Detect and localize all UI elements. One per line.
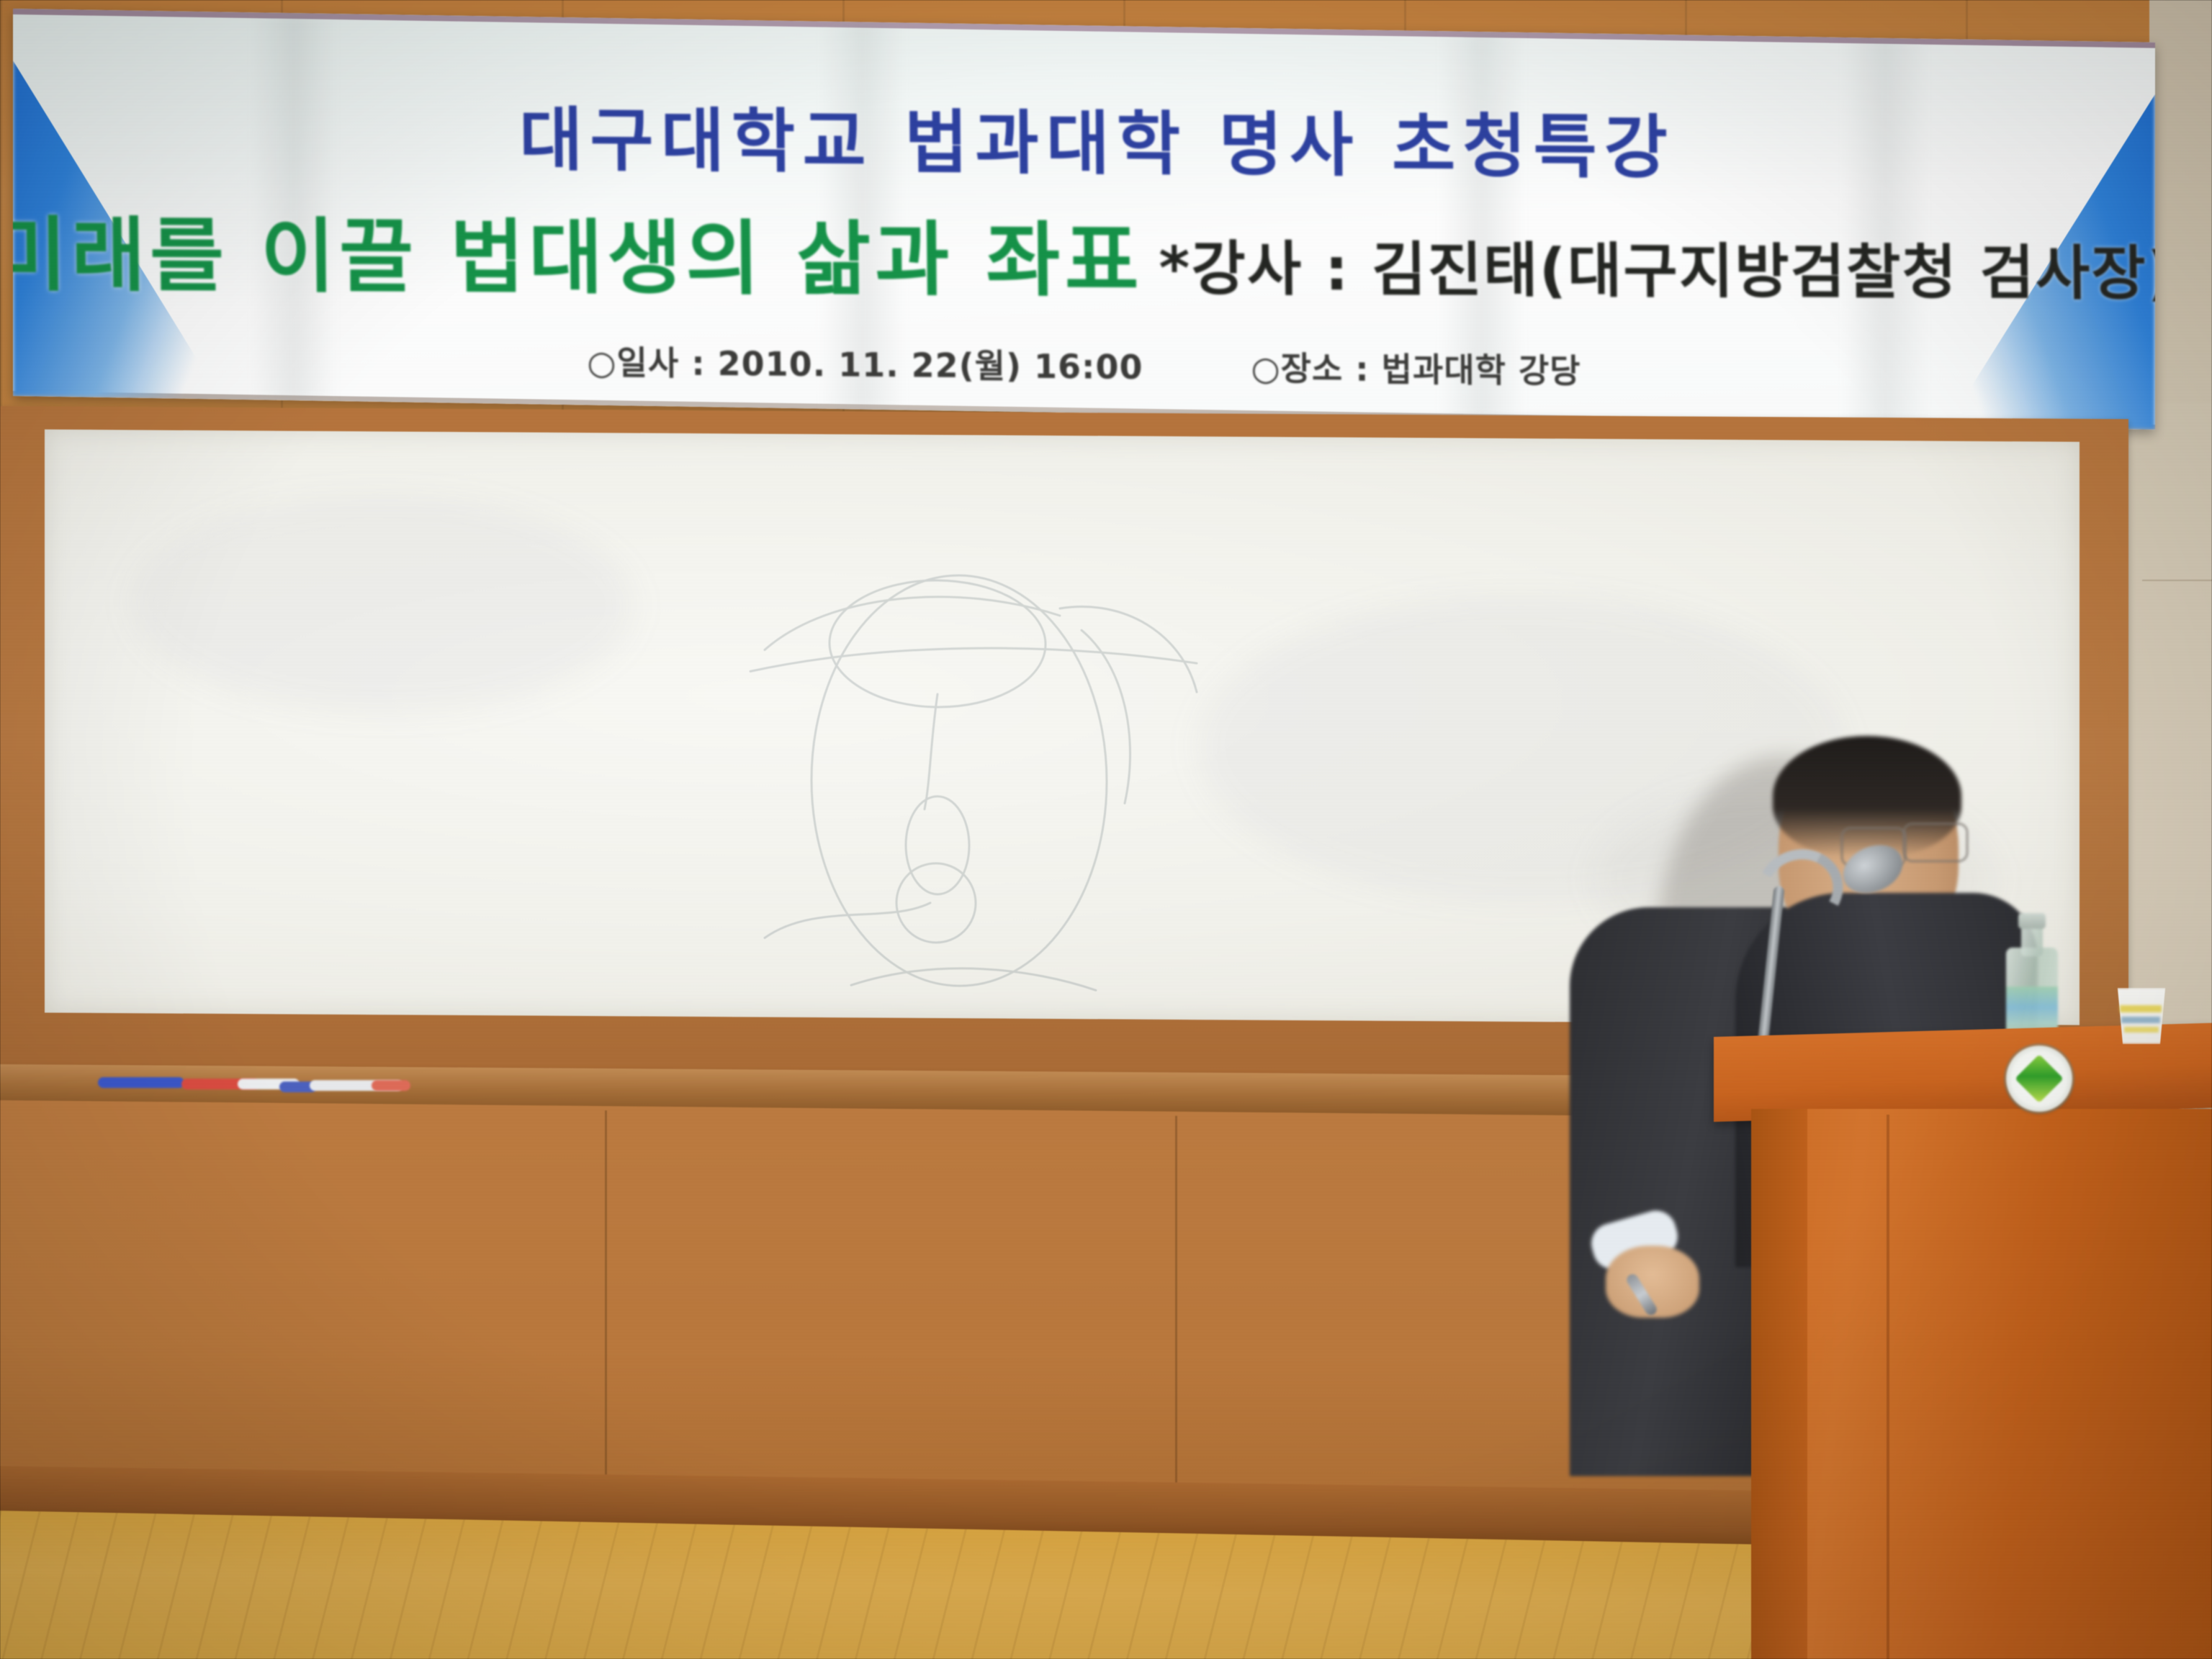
paper-cup[interactable]	[2116, 988, 2167, 1044]
wall-seam	[2142, 580, 2212, 581]
emblem-diamond-icon	[2015, 1054, 2064, 1103]
whiteboard-erased-drawing	[721, 563, 1226, 998]
event-banner: 대구대학교 법과대학 명사 초청특강 미래를 이끌 법대생의 삶과 좌표 *강사…	[13, 9, 2155, 430]
banner-place: ○장소 : 법과대학 강당	[1251, 342, 1581, 392]
banner-speaker-line: *강사 : 김진태(대구지방검찰청 검사장)	[1159, 220, 2155, 311]
bottle-label	[2006, 986, 2058, 1030]
podium-body	[1751, 1109, 2212, 1659]
podium-edge-seam	[1887, 1115, 1889, 1659]
red-marker-2[interactable]	[372, 1080, 410, 1091]
panel-seam	[1175, 1116, 1177, 1491]
cup-band-yellow	[2120, 1005, 2162, 1012]
podium-left-face	[1751, 1109, 1807, 1659]
university-emblem	[2006, 1046, 2072, 1112]
cup-band-blue	[2121, 1017, 2160, 1023]
banner-subtitle-row: 미래를 이끌 법대생의 삶과 좌표 *강사 : 김진태(대구지방검찰청 검사장)	[13, 190, 2155, 318]
lecture-hall-photo: 대구대학교 법과대학 명사 초청특강 미래를 이끌 법대생의 삶과 좌표 *강사…	[0, 0, 2212, 1659]
banner-subtitle-green: 미래를 이끌 법대생의 삶과 좌표	[13, 189, 1143, 312]
panel-seam	[605, 1110, 607, 1485]
eyeglasses-right-lens	[1902, 822, 1969, 863]
blue-marker[interactable]	[98, 1077, 184, 1088]
cup-band-yellow-2	[2124, 1027, 2159, 1033]
bottle-cap	[2018, 913, 2046, 929]
banner-date: ○일사 : 2010. 11. 22(월) 16:00	[587, 336, 1143, 389]
whiteboard-smudge	[131, 495, 635, 714]
upper-wall-right-column	[2149, 0, 2212, 432]
banner-title: 대구대학교 법과대학 명사 초청특강	[25, 80, 2155, 195]
